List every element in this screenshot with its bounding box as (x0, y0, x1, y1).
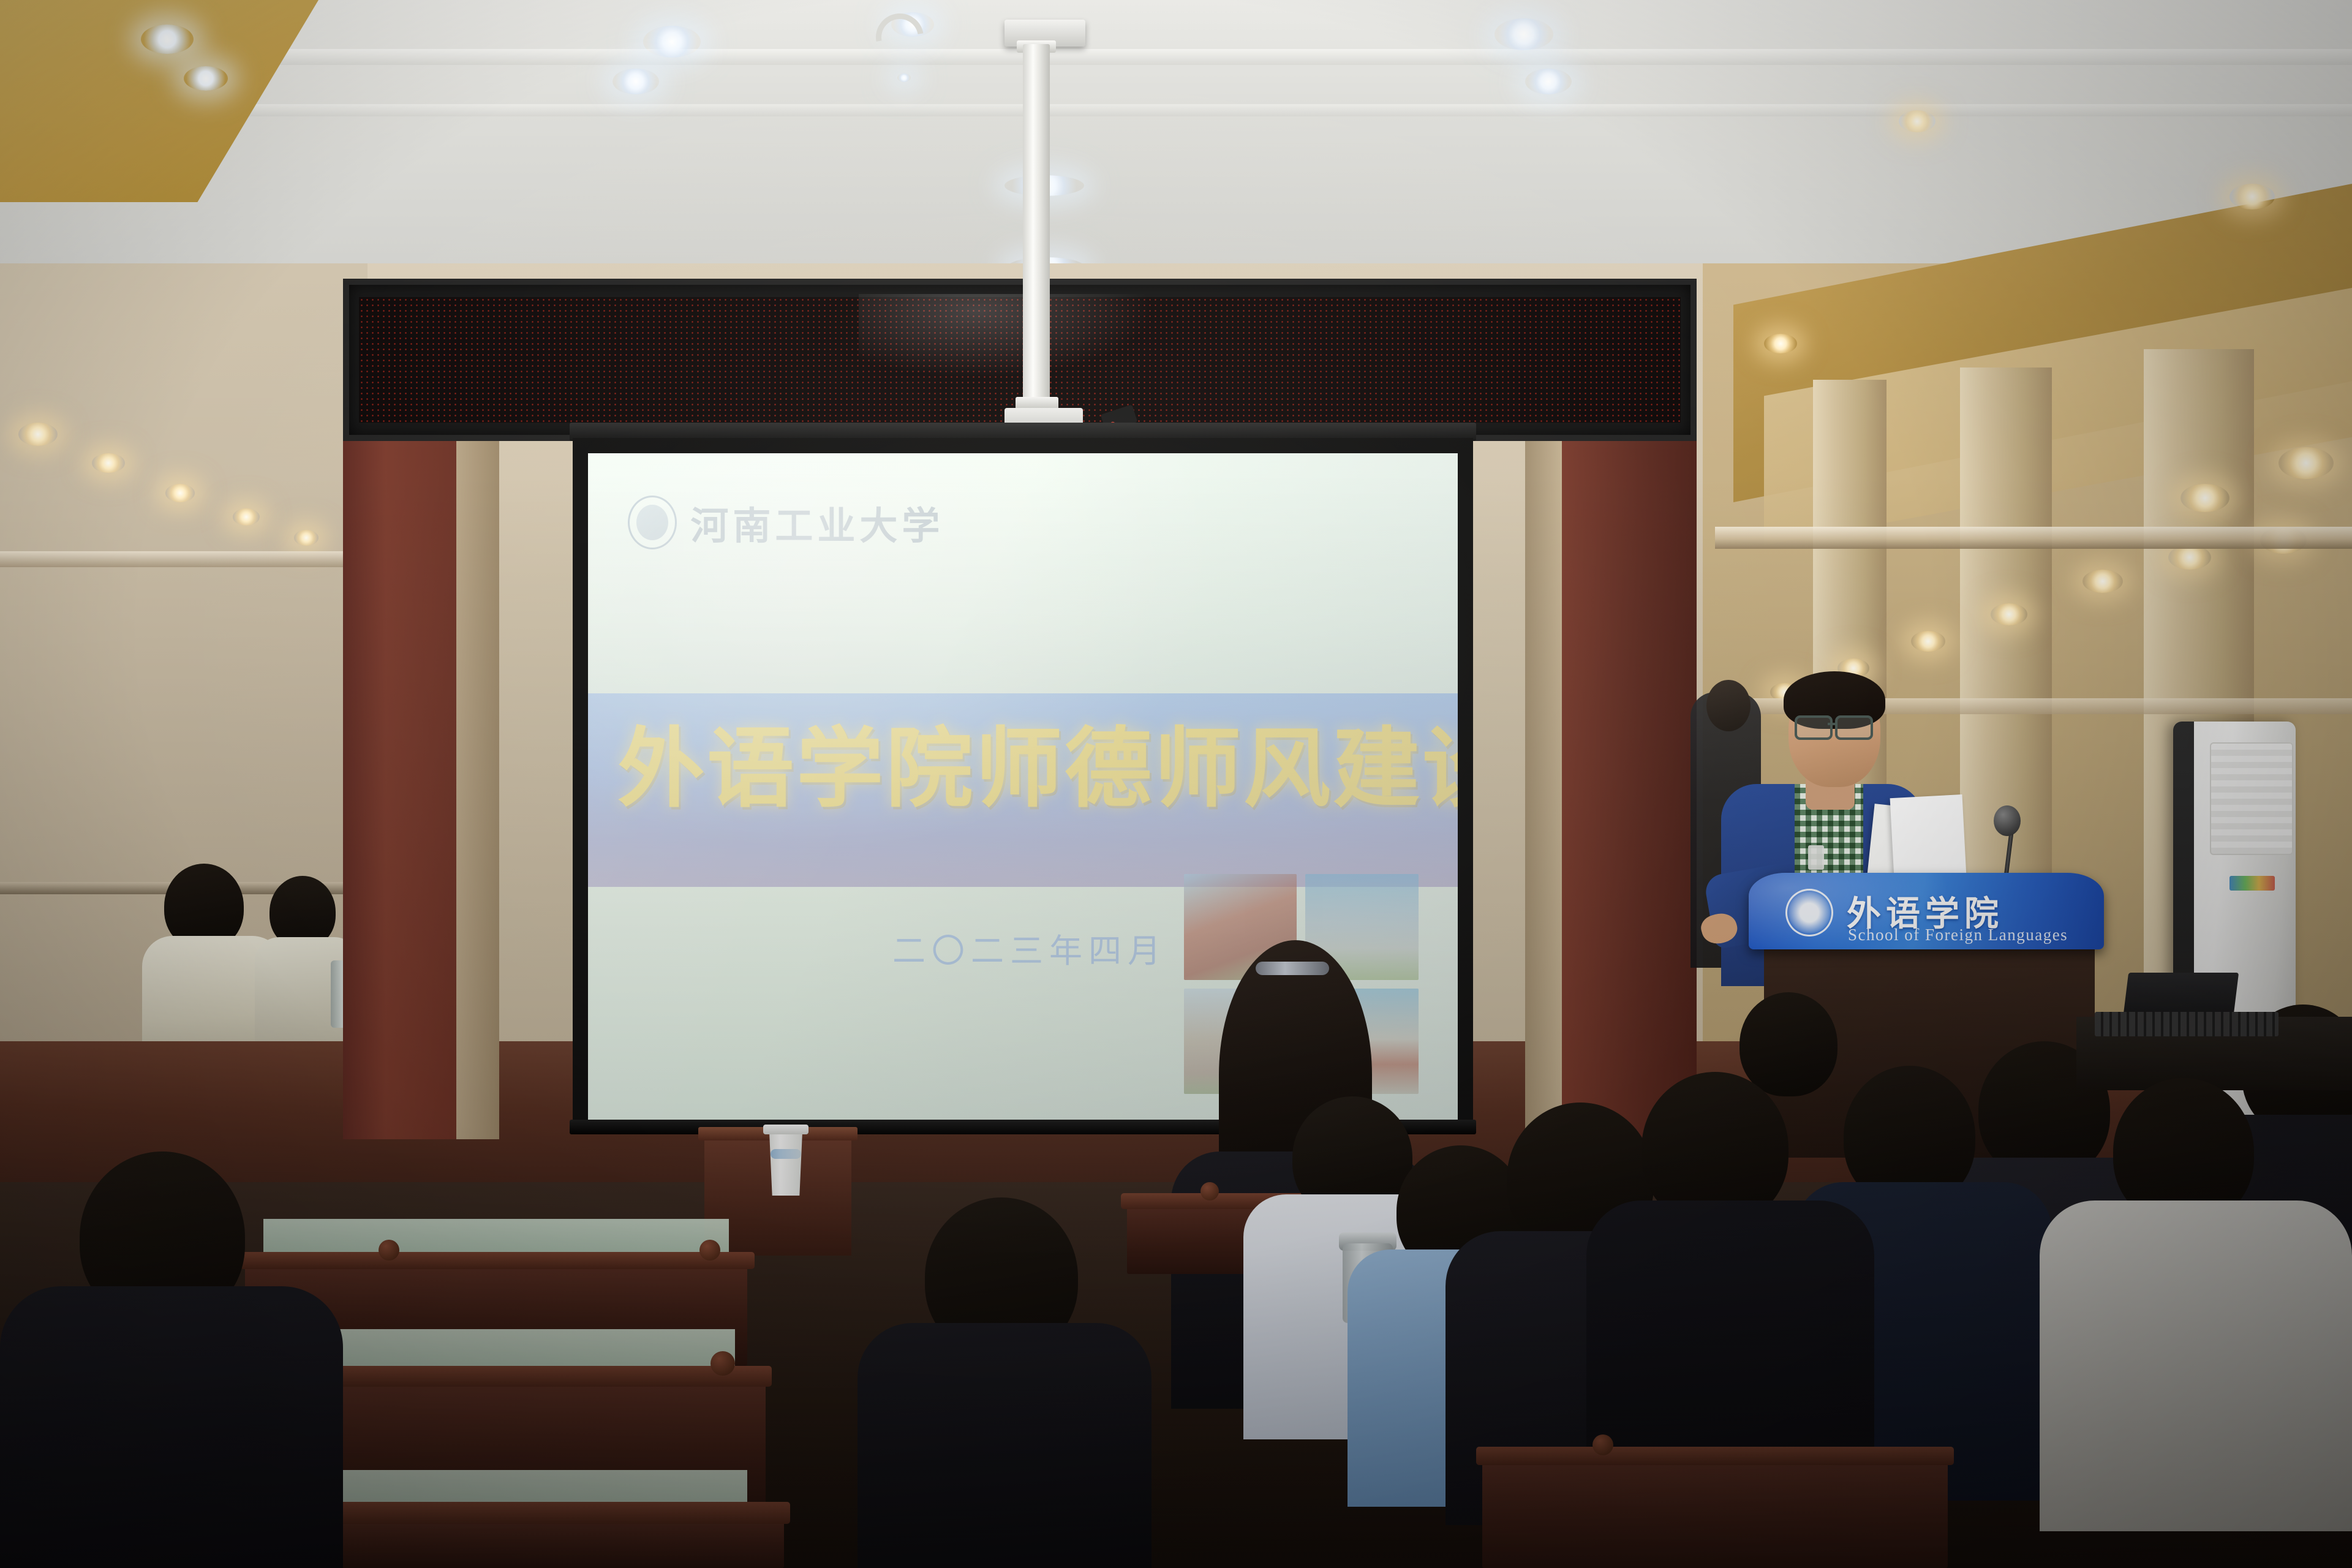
air-conditioner-logo-icon (2229, 876, 2275, 891)
recessed-downlight (165, 484, 195, 502)
university-name: 河南工业大学 (690, 495, 944, 550)
bench-knob (710, 1351, 735, 1376)
ceiling-downlight (643, 26, 701, 58)
conference-hall-photo: 河南工业大学 外语学院师德师风建设会议 二〇二三年四月 外语学院 (0, 0, 2352, 1568)
recessed-downlight (294, 530, 318, 546)
background-person-head (1706, 680, 1751, 731)
recessed-downlight (1764, 334, 1797, 353)
recessed-downlight (18, 423, 58, 446)
audience-body (0, 1286, 343, 1568)
microphone-icon (1994, 805, 2021, 836)
recessed-downlight (233, 508, 260, 526)
audience-body (2040, 1200, 2352, 1531)
bench-knob (379, 1240, 399, 1261)
bench-desk (1482, 1458, 1948, 1568)
slide-top-band (588, 453, 1458, 693)
recessed-downlight (2278, 447, 2334, 479)
bench-desk-top (1476, 1447, 1954, 1465)
university-emblem-icon (628, 496, 677, 549)
ceiling (0, 0, 2352, 288)
glass-partition-band (0, 551, 380, 567)
recessed-downlight (2082, 570, 2123, 593)
ceiling-downlight (184, 66, 228, 91)
ceiling-downlight (612, 69, 659, 94)
keyboard[interactable] (2095, 1012, 2278, 1036)
paper-cup-lip (763, 1125, 809, 1134)
glass-partition-band (1715, 527, 2352, 549)
recessed-downlight (2229, 184, 2275, 209)
recessed-downlight (2168, 545, 2211, 570)
ceiling-downlight (1494, 18, 1553, 50)
bench-knob (1200, 1182, 1219, 1200)
ceiling-sensor (897, 73, 911, 82)
slide-date: 二〇二三年四月 (892, 924, 1167, 972)
bench-desk-top (240, 1252, 755, 1269)
recessed-downlight (1899, 110, 1936, 132)
hair-clip (1256, 962, 1329, 975)
projector-mount-pole (1023, 44, 1050, 412)
bench-knob (699, 1240, 720, 1261)
ceiling-trim-band-2 (0, 104, 2352, 116)
audience-body (858, 1323, 1151, 1568)
podium-sign: 外语学院 School of Foreign Languages (1749, 873, 2104, 949)
air-conditioner-vent (2210, 742, 2293, 855)
paper-cup (767, 1128, 805, 1196)
eyeglasses-bridge (1828, 723, 1836, 725)
recessed-downlight (1991, 603, 2027, 625)
recessed-downlight (92, 453, 125, 473)
led-glare (859, 294, 1154, 378)
speaker-badge (1808, 845, 1824, 870)
audience-head (1740, 992, 1838, 1096)
eyeglasses-icon (1795, 715, 1833, 740)
podium-name-en: School of Foreign Languages (1848, 925, 2068, 944)
eyeglasses-icon (1835, 715, 1873, 740)
recessed-downlight (1911, 631, 1945, 652)
university-logo: 河南工业大学 (628, 495, 944, 550)
ceiling-trim-band (0, 49, 2352, 65)
recessed-downlight (2180, 484, 2229, 512)
university-emblem-icon (1785, 889, 1833, 937)
ceiling-downlight (141, 24, 194, 54)
bench-knob (1593, 1434, 1613, 1455)
paper-cup-print (771, 1149, 801, 1159)
ceiling-downlight (1525, 69, 1572, 94)
slide-title: 外语学院师德师风建设会议 (617, 723, 1427, 815)
